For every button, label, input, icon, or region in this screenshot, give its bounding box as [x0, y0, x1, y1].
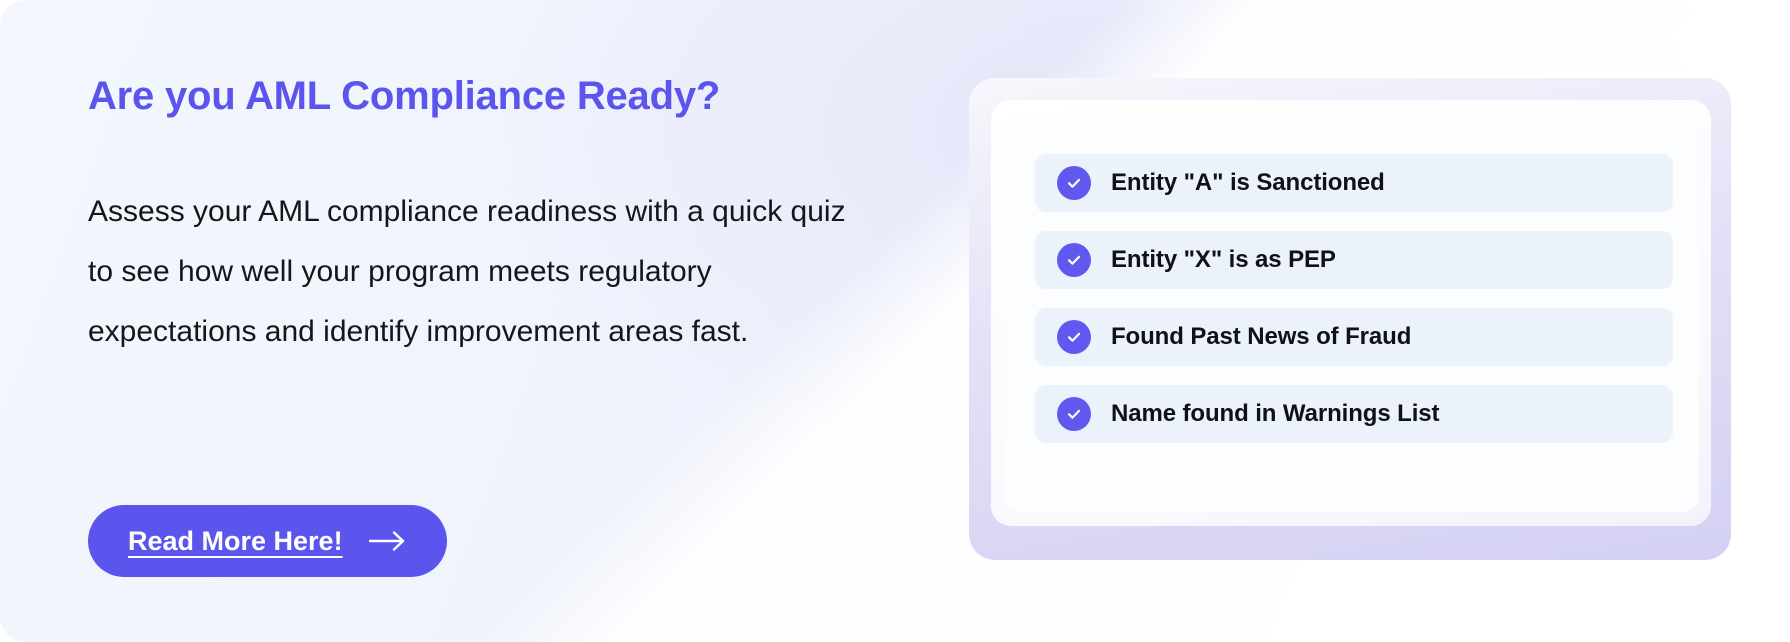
- list-item-label: Entity "A" is Sanctioned: [1111, 169, 1385, 197]
- list-item: Name found in Warnings List: [1035, 385, 1673, 443]
- list-item-label: Name found in Warnings List: [1111, 400, 1439, 428]
- list-item: Found Past News of Fraud: [1035, 308, 1673, 366]
- list-item: Entity "X" is as PEP: [1035, 231, 1673, 289]
- check-circle-icon: [1057, 243, 1091, 277]
- check-circle-icon: [1057, 166, 1091, 200]
- checklist-card-middle-frame: Entity "A" is Sanctioned Entity "X" is a…: [991, 100, 1711, 526]
- promo-text-column: Are you AML Compliance Ready? Assess you…: [88, 0, 898, 642]
- list-item-label: Entity "X" is as PEP: [1111, 246, 1336, 274]
- check-circle-icon: [1057, 397, 1091, 431]
- promo-description: Assess your AML compliance readiness wit…: [88, 182, 878, 362]
- page-title: Are you AML Compliance Ready?: [88, 74, 720, 119]
- list-item: Entity "A" is Sanctioned: [1035, 154, 1673, 212]
- list-item-label: Found Past News of Fraud: [1111, 323, 1411, 351]
- checklist-panel: Entity "A" is Sanctioned Entity "X" is a…: [1005, 114, 1699, 512]
- checklist-card-outer-frame: Entity "A" is Sanctioned Entity "X" is a…: [969, 78, 1731, 560]
- arrow-right-icon: [369, 530, 407, 552]
- promo-banner: Are you AML Compliance Ready? Assess you…: [0, 0, 1790, 642]
- read-more-label: Read More Here!: [128, 526, 343, 557]
- check-circle-icon: [1057, 320, 1091, 354]
- read-more-button[interactable]: Read More Here!: [88, 505, 447, 577]
